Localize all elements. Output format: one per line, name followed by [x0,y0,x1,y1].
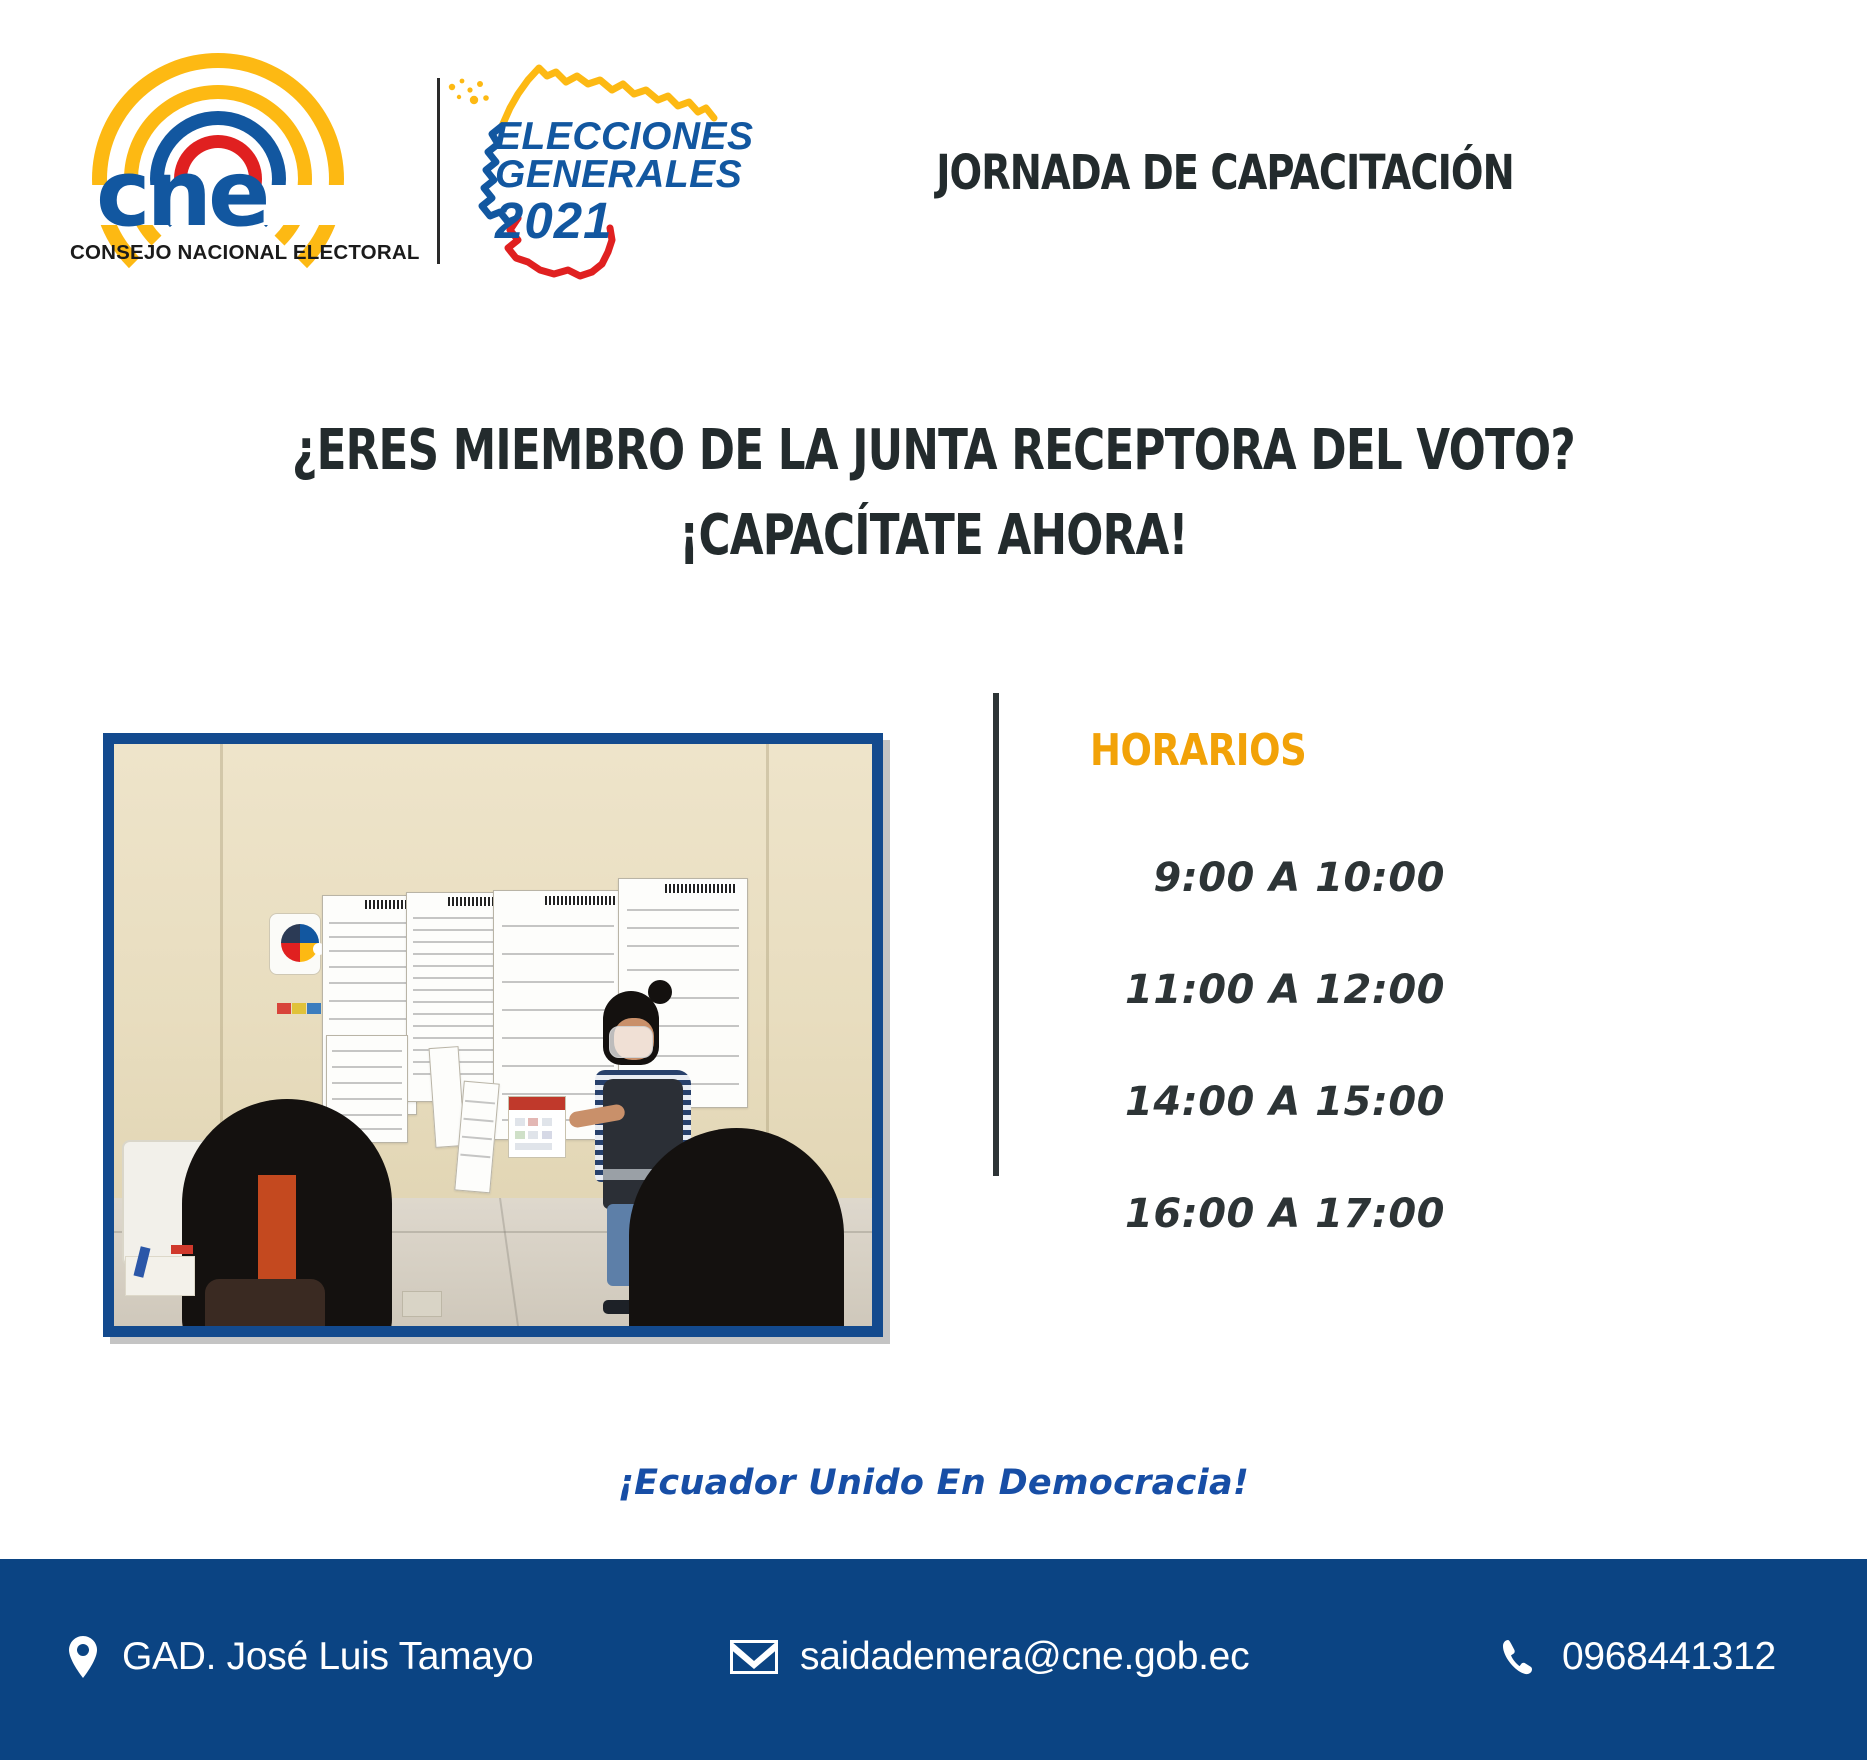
footer-location-text: GAD. José Luis Tamayo [122,1635,533,1679]
cne-wordmark: cne [96,148,266,240]
footer-email-text: saidademera@cne.gob.ec [800,1635,1249,1679]
phone-icon [1500,1637,1540,1677]
schedule-times-list: 9:00 A 10:00 11:00 A 12:00 14:00 A 15:00… [1000,855,1660,1237]
elecciones-line1: ELECCIONES [495,118,754,156]
page-title: JORNADA DE CAPACITACIÓN [909,145,1541,201]
footer-phone[interactable]: 0968441312 [1500,1635,1776,1679]
footer-email[interactable]: saidademera@cne.gob.ec [730,1635,1249,1679]
schedule-time-item: 16:00 A 17:00 [1000,1191,1660,1237]
schedule-heading: HORARIOS [1090,725,1306,776]
cne-logo: cne CONSEJO NACIONAL ELECTORAL [70,45,380,280]
headline-block: ¿ERES MIEMBRO DE LA JUNTA RECEPTORA DEL … [0,418,1867,568]
headline-line-2: ¡CAPACÍTATE AHORA! [205,503,1661,568]
footer-location: GAD. José Luis Tamayo [66,1635,533,1679]
training-photo: GAD [114,744,872,1326]
schedule-time-item: 11:00 A 12:00 [1000,967,1660,1013]
slogan: ¡Ecuador Unido En Democracia! [0,1463,1867,1503]
cne-subtitle: CONSEJO NACIONAL ELECTORAL [70,241,380,265]
elecciones-line2: GENERALES [495,156,754,194]
headline-line-1: ¿ERES MIEMBRO DE LA JUNTA RECEPTORA DEL … [205,418,1661,483]
poster-header: cne CONSEJO NACIONAL ELECTORAL ELECCIONE… [0,0,1867,320]
elecciones-text-block: ELECCIONES GENERALES 2021 [495,118,754,246]
footer-phone-text: 0968441312 [1562,1635,1776,1679]
elecciones-year: 2021 [495,196,754,246]
training-photo-frame: GAD [103,733,883,1337]
vertical-divider [993,693,999,1176]
schedule-time-item: 9:00 A 10:00 [1000,855,1660,901]
envelope-icon [730,1640,778,1674]
elecciones-generales-mark: ELECCIONES GENERALES 2021 [440,50,760,290]
schedule-time-item: 14:00 A 15:00 [1000,1079,1660,1125]
location-pin-icon [66,1635,100,1679]
contact-footer: GAD. José Luis Tamayo saidademera@cne.go… [0,1559,1867,1760]
